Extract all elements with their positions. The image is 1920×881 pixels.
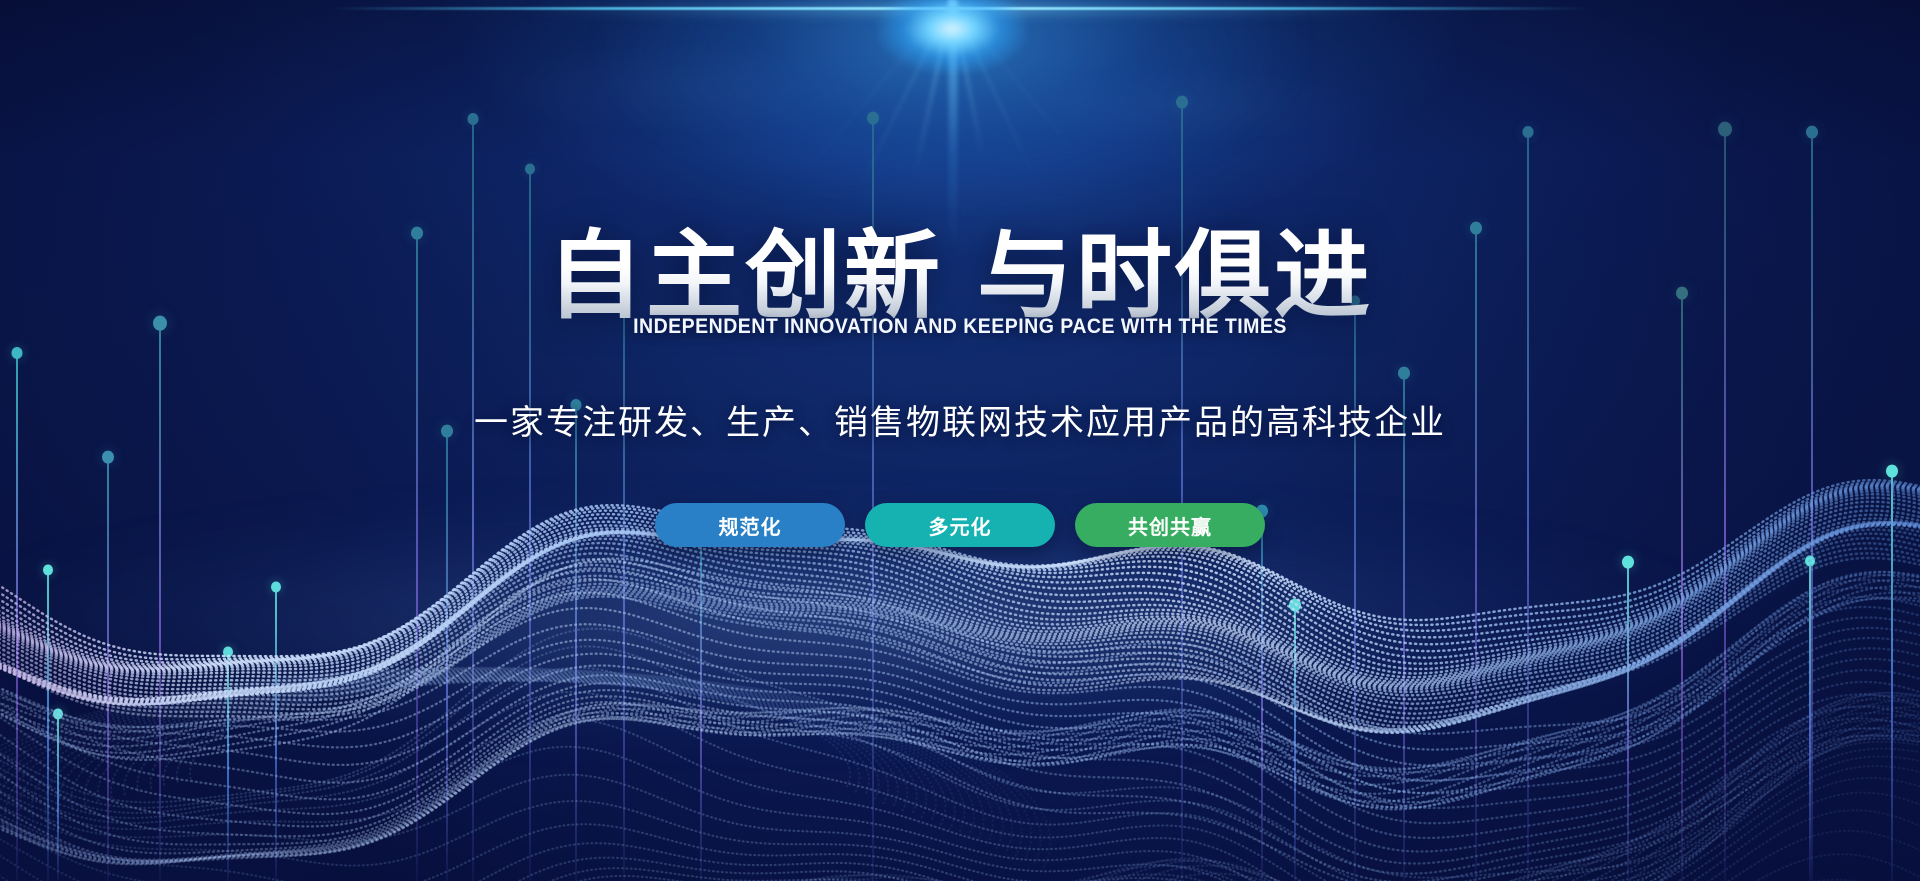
value-pill-2[interactable]: 多元化 bbox=[865, 503, 1055, 547]
subtitle-english: INDEPENDENT INNOVATION AND KEEPING PACE … bbox=[67, 315, 1853, 339]
value-pill-label: 共创共赢 bbox=[1128, 511, 1212, 540]
banner-content: 自主创新与时俱进 INDEPENDENT INNOVATION AND KEEP… bbox=[0, 0, 1920, 881]
hero-banner: 自主创新与时俱进 INDEPENDENT INNOVATION AND KEEP… bbox=[0, 0, 1920, 881]
value-pill-row: 规范化多元化共创共赢 bbox=[0, 503, 1920, 547]
value-pill-1[interactable]: 规范化 bbox=[655, 503, 845, 547]
value-pill-label: 多元化 bbox=[929, 511, 992, 540]
value-pill-label: 规范化 bbox=[719, 511, 782, 540]
tagline-chinese: 一家专注研发、生产、销售物联网技术应用产品的高科技企业 bbox=[0, 395, 1920, 444]
value-pill-3[interactable]: 共创共赢 bbox=[1075, 503, 1265, 547]
